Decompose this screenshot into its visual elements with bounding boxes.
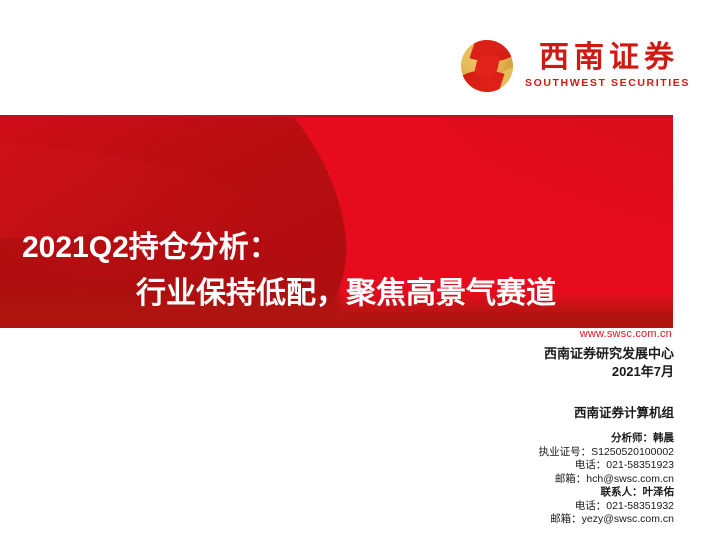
slide-header: 西南证券 SOUTHWEST SECURITIES: [0, 0, 720, 115]
logo-company-name-cn: 西南证券: [534, 43, 679, 73]
logo-company-name-en: SOUTHWEST SECURITIES: [523, 78, 690, 89]
analyst-name: 分析师：韩晨: [539, 432, 674, 446]
logo-wordmark: 西南证券 SOUTHWEST SECURITIES: [523, 43, 690, 89]
southwest-securities-emblem-icon: [461, 40, 513, 92]
department-block: 西南证券研究发展中心 2021年7月: [544, 345, 674, 381]
secondary-contact-block: 联系人：叶泽佑 电话：021-58351932 邮箱：yezy@swsc.com…: [550, 486, 674, 527]
analyst-license: 执业证号：S1250520100002: [539, 446, 674, 460]
title-banner: 2021Q2持仓分析： 行业保持低配，聚焦高景气赛道: [0, 115, 673, 328]
analyst-contact-block: 分析师：韩晨 执业证号：S1250520100002 电话：021-583519…: [539, 432, 674, 486]
title-container: 2021Q2持仓分析： 行业保持低配，聚焦高景气赛道: [0, 118, 673, 328]
analyst-email[interactable]: 邮箱：hch@swsc.com.cn: [539, 473, 674, 487]
slide-cover: 西南证券 SOUTHWEST SECURITIES 2021Q2持仓分析： 行业…: [0, 0, 720, 540]
website-url[interactable]: www.swsc.com.cn: [580, 328, 672, 340]
department-name: 西南证券研究发展中心: [544, 345, 674, 363]
publication-date: 2021年7月: [544, 363, 674, 381]
team-name: 西南证券计算机组: [574, 403, 674, 423]
page-title-line-1: 2021Q2持仓分析：: [22, 222, 279, 266]
team-block: 西南证券计算机组: [574, 403, 674, 423]
analyst-phone: 电话：021-58351923: [539, 459, 674, 473]
page-title-line-2: 行业保持低配，聚焦高景气赛道: [136, 268, 556, 312]
contact-name: 联系人：叶泽佑: [550, 486, 674, 500]
company-logo: 西南证券 SOUTHWEST SECURITIES: [461, 40, 690, 92]
contact-phone: 电话：021-58351932: [550, 500, 674, 514]
contact-email[interactable]: 邮箱：yezy@swsc.com.cn: [550, 513, 674, 527]
